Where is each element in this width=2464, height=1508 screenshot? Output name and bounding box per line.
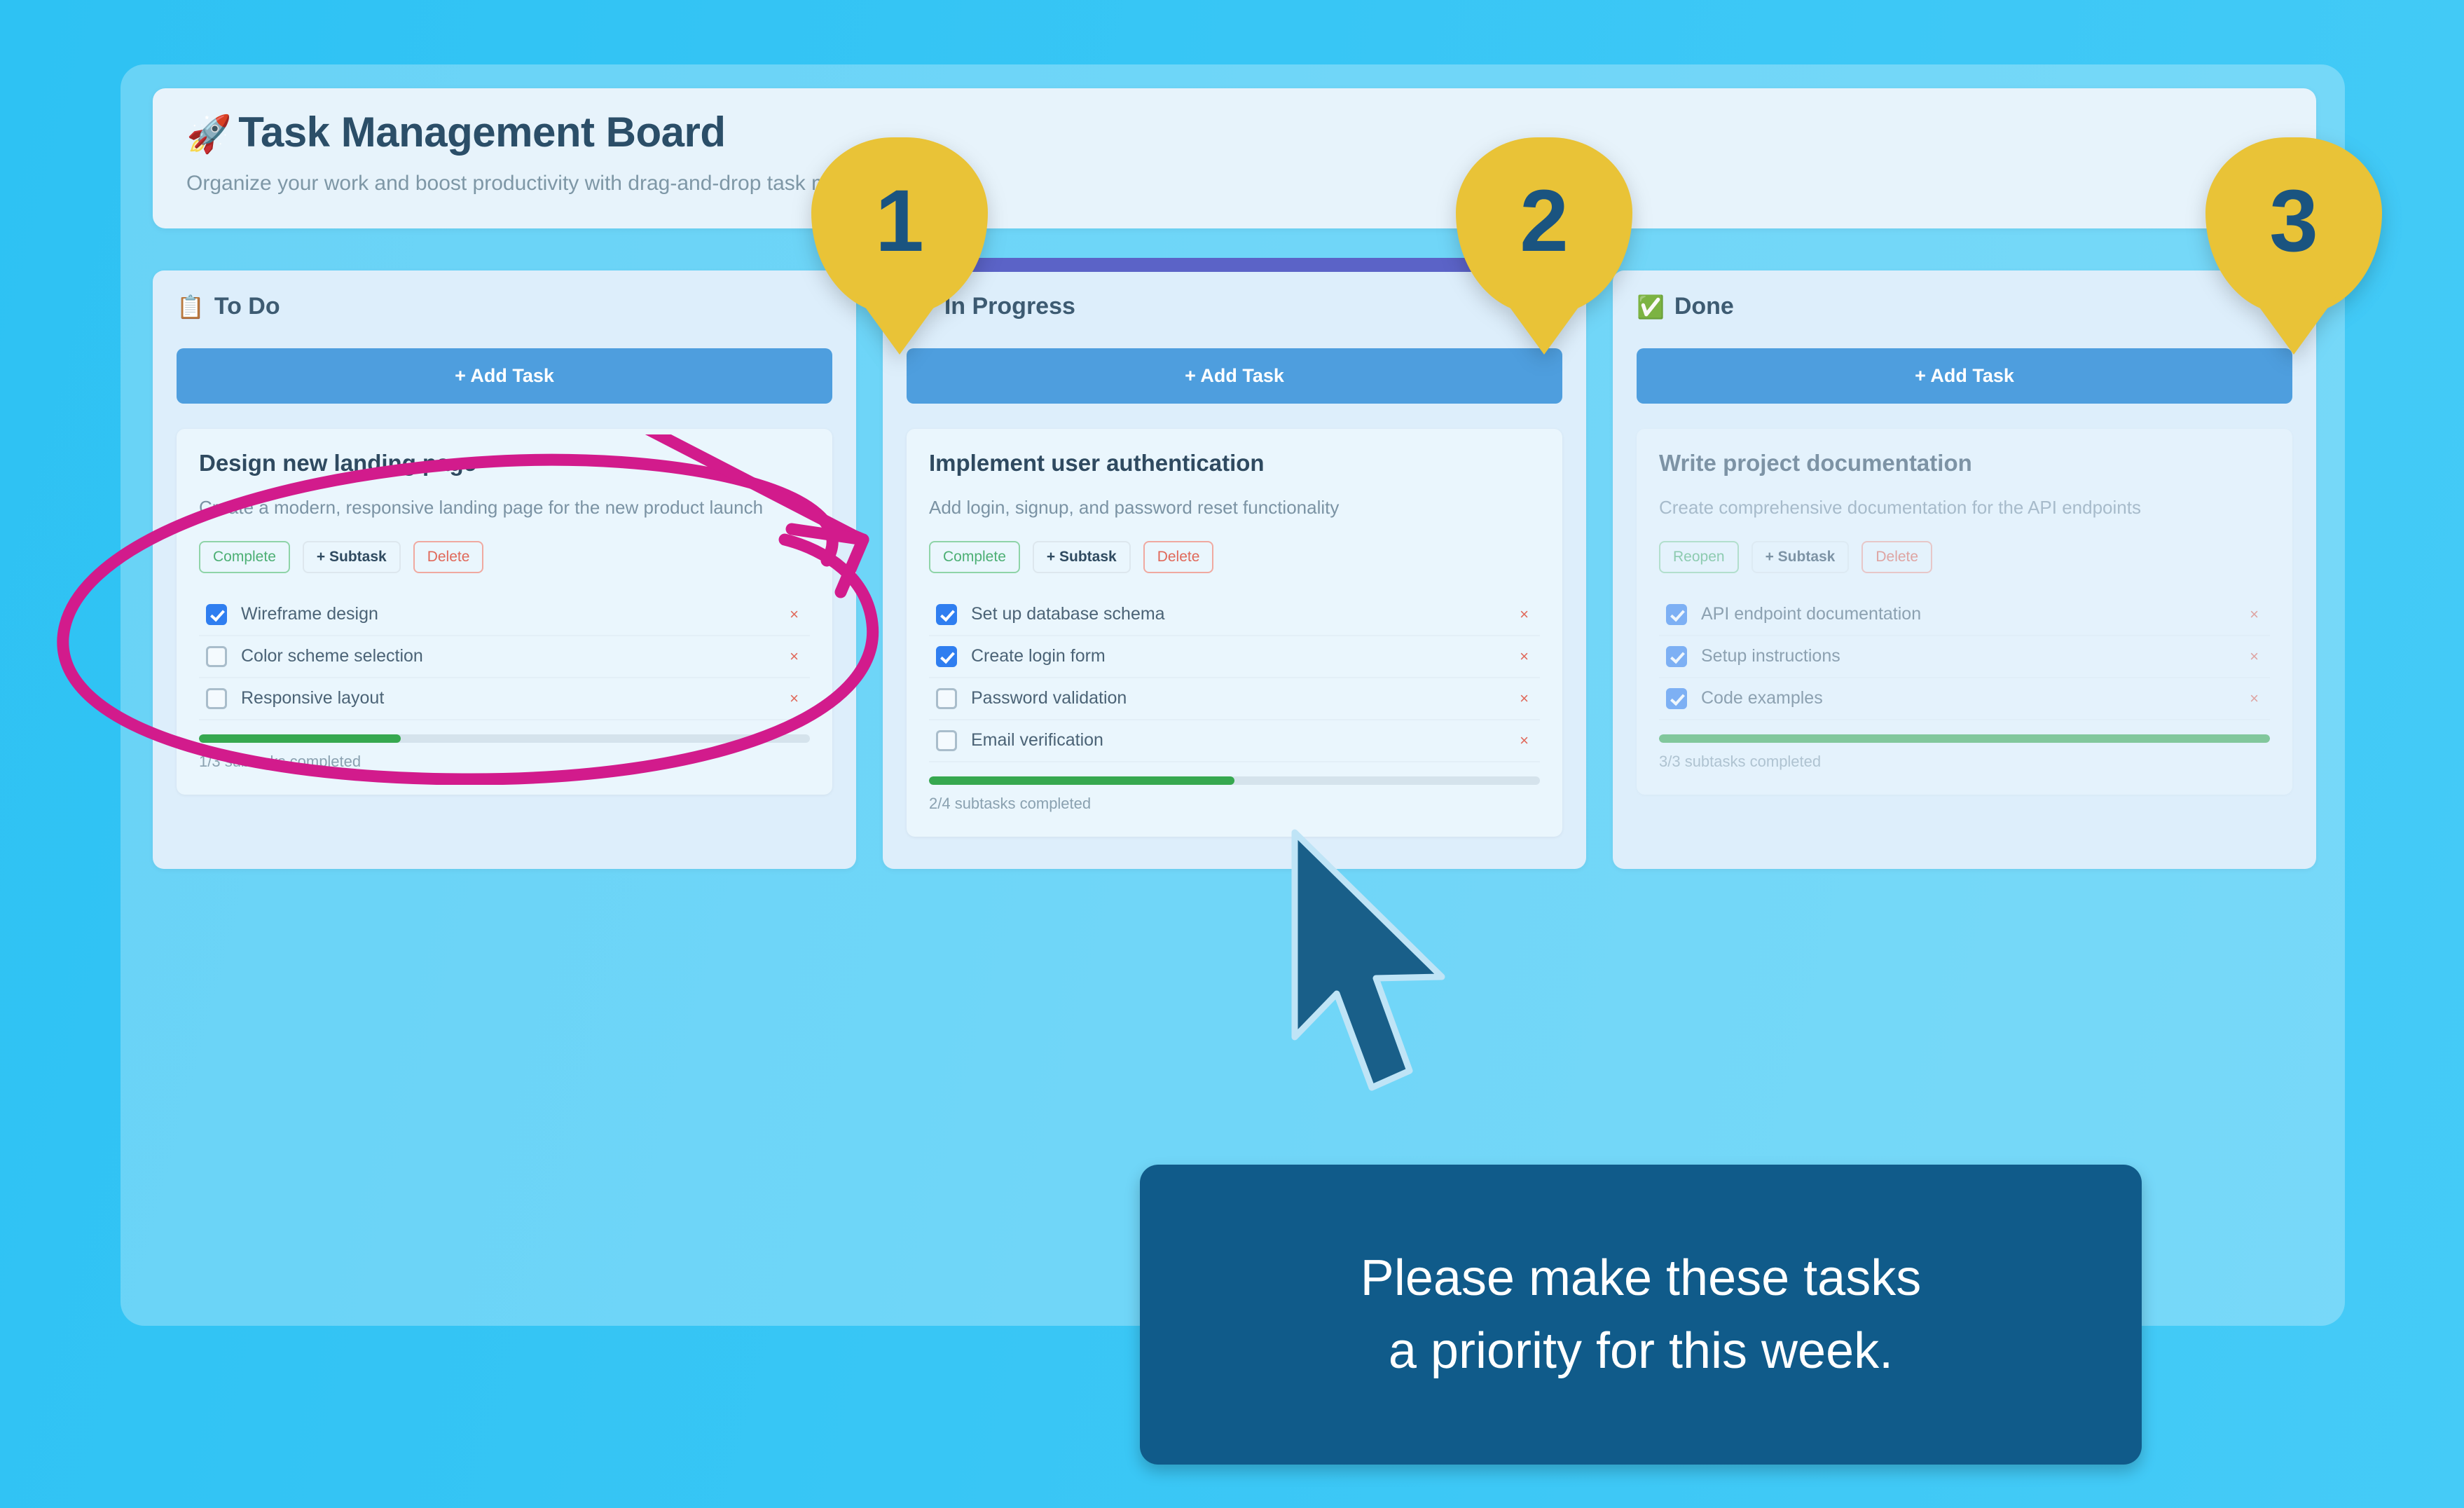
column-title-todo: To Do: [214, 293, 280, 320]
delete-subtask-icon[interactable]: ×: [1520, 732, 1533, 750]
column-done: ✅Done+ Add TaskWrite project documentati…: [1613, 270, 2316, 869]
annotation-pin-1-number: 1: [811, 137, 988, 314]
progress-bar: [199, 734, 810, 743]
column-todo: 📋To Do+ Add TaskDesign new landing pageC…: [153, 270, 856, 869]
complete-button[interactable]: Complete: [199, 541, 290, 573]
subtask-label: Code examples: [1701, 688, 2250, 708]
task-title: Write project documentation: [1659, 450, 2270, 477]
subtask-checkbox[interactable]: [1666, 688, 1687, 709]
delete-subtask-icon[interactable]: ×: [1520, 690, 1533, 708]
page-title-text: Task Management Board: [238, 109, 725, 156]
subtask-label: API endpoint documentation: [1701, 604, 2250, 624]
delete-subtask-icon[interactable]: ×: [2250, 647, 2263, 666]
task-description: Create comprehensive documentation for t…: [1659, 495, 2270, 521]
subtask-checkbox[interactable]: [936, 730, 957, 751]
subtask-checkbox[interactable]: [936, 688, 957, 709]
delete-subtask-icon[interactable]: ×: [1520, 647, 1533, 666]
add-task-button-todo[interactable]: + Add Task: [177, 348, 832, 404]
progress-bar-fill: [929, 776, 1234, 785]
subtask-checkbox[interactable]: [1666, 604, 1687, 625]
annotation-pin-2: 2: [1456, 137, 1632, 314]
progress-label: 3/3 subtasks completed: [1659, 753, 2270, 771]
subtask-checkbox[interactable]: [206, 604, 227, 625]
subtask-label: Set up database schema: [971, 604, 1520, 624]
progress-label: 2/4 subtasks completed: [929, 795, 1540, 813]
subtask-row[interactable]: Password validation×: [929, 678, 1540, 720]
subtask-row[interactable]: API endpoint documentation×: [1659, 594, 2270, 636]
delete-subtask-icon[interactable]: ×: [2250, 690, 2263, 708]
subtask-label: Create login form: [971, 646, 1520, 666]
task-card[interactable]: Write project documentationCreate compre…: [1637, 429, 2292, 795]
subtask-checkbox[interactable]: [936, 604, 957, 625]
instruction-callout-text: Please make these tasks a priority for t…: [1361, 1242, 1921, 1388]
subtask-label: Responsive layout: [241, 688, 790, 708]
subtask-list: API endpoint documentation×Setup instruc…: [1659, 594, 2270, 720]
page-subtitle: Organize your work and boost productivit…: [186, 172, 2283, 196]
subtask-row[interactable]: Responsive layout×: [199, 678, 810, 720]
subtask-list: Set up database schema×Create login form…: [929, 594, 1540, 762]
task-actions: Reopen+ SubtaskDelete: [1659, 541, 2270, 573]
annotation-pin-2-number: 2: [1456, 137, 1632, 314]
subtask-list: Wireframe design×Color scheme selection×…: [199, 594, 810, 720]
subtask-row[interactable]: Color scheme selection×: [199, 636, 810, 678]
subtask-row[interactable]: Code examples×: [1659, 678, 2270, 720]
task-description: Create a modern, responsive landing page…: [199, 495, 810, 521]
green-check-box-icon: ✅: [1637, 296, 1665, 318]
subtask-checkbox[interactable]: [206, 646, 227, 667]
subtask-checkbox[interactable]: [1666, 646, 1687, 667]
subtask-label: Email verification: [971, 730, 1520, 750]
add-subtask-button[interactable]: + Subtask: [1033, 541, 1131, 573]
subtask-row[interactable]: Set up database schema×: [929, 594, 1540, 636]
instruction-callout: Please make these tasks a priority for t…: [1140, 1165, 2142, 1465]
rocket-icon: 🚀: [186, 114, 231, 155]
annotation-pin-3-number: 3: [2205, 137, 2382, 314]
subtask-row[interactable]: Email verification×: [929, 720, 1540, 762]
column-in-progress: ⚡In Progress+ Add TaskImplement user aut…: [883, 270, 1586, 869]
subtask-row[interactable]: Create login form×: [929, 636, 1540, 678]
delete-task-button[interactable]: Delete: [1143, 541, 1214, 573]
subtask-row[interactable]: Wireframe design×: [199, 594, 810, 636]
task-description: Add login, signup, and password reset fu…: [929, 495, 1540, 521]
add-task-button-done[interactable]: + Add Task: [1637, 348, 2292, 404]
task-card[interactable]: Implement user authenticationAdd login, …: [907, 429, 1562, 837]
subtask-checkbox[interactable]: [936, 646, 957, 667]
column-title-done: Done: [1674, 293, 1734, 320]
board-columns: 📋To Do+ Add TaskDesign new landing pageC…: [153, 270, 2316, 869]
add-subtask-button[interactable]: + Subtask: [303, 541, 401, 573]
subtask-checkbox[interactable]: [206, 688, 227, 709]
complete-button[interactable]: Complete: [929, 541, 1020, 573]
delete-subtask-icon[interactable]: ×: [790, 690, 803, 708]
header-panel: 🚀Task Management Board Organize your wor…: [153, 88, 2316, 228]
clipboard-icon: 📋: [177, 296, 205, 318]
task-actions: Complete+ SubtaskDelete: [199, 541, 810, 573]
page-title: 🚀Task Management Board: [186, 108, 2283, 156]
progress-bar-fill: [199, 734, 401, 743]
subtask-label: Wireframe design: [241, 604, 790, 624]
subtask-label: Setup instructions: [1701, 646, 2250, 666]
progress-bar: [1659, 734, 2270, 743]
subtask-row[interactable]: Setup instructions×: [1659, 636, 2270, 678]
delete-task-button[interactable]: Delete: [1861, 541, 1932, 573]
annotation-pin-3: 3: [2205, 137, 2382, 314]
task-actions: Complete+ SubtaskDelete: [929, 541, 1540, 573]
progress-bar-fill: [1659, 734, 2270, 743]
column-header-todo: 📋To Do: [177, 293, 832, 320]
task-title: Design new landing page: [199, 450, 810, 477]
delete-subtask-icon[interactable]: ×: [1520, 605, 1533, 624]
delete-task-button[interactable]: Delete: [413, 541, 484, 573]
subtask-label: Password validation: [971, 688, 1520, 708]
subtask-label: Color scheme selection: [241, 646, 790, 666]
task-title: Implement user authentication: [929, 450, 1540, 477]
column-header-done: ✅Done: [1637, 293, 2292, 320]
reopen-button[interactable]: Reopen: [1659, 541, 1739, 573]
delete-subtask-icon[interactable]: ×: [790, 647, 803, 666]
delete-subtask-icon[interactable]: ×: [790, 605, 803, 624]
progress-bar: [929, 776, 1540, 785]
progress-label: 1/3 subtasks completed: [199, 753, 810, 771]
delete-subtask-icon[interactable]: ×: [2250, 605, 2263, 624]
task-card[interactable]: Design new landing pageCreate a modern, …: [177, 429, 832, 795]
add-task-button-in-progress[interactable]: + Add Task: [907, 348, 1562, 404]
mouse-cursor-pointer: [1282, 827, 1464, 1128]
annotation-pin-1: 1: [811, 137, 988, 314]
add-subtask-button[interactable]: + Subtask: [1751, 541, 1850, 573]
